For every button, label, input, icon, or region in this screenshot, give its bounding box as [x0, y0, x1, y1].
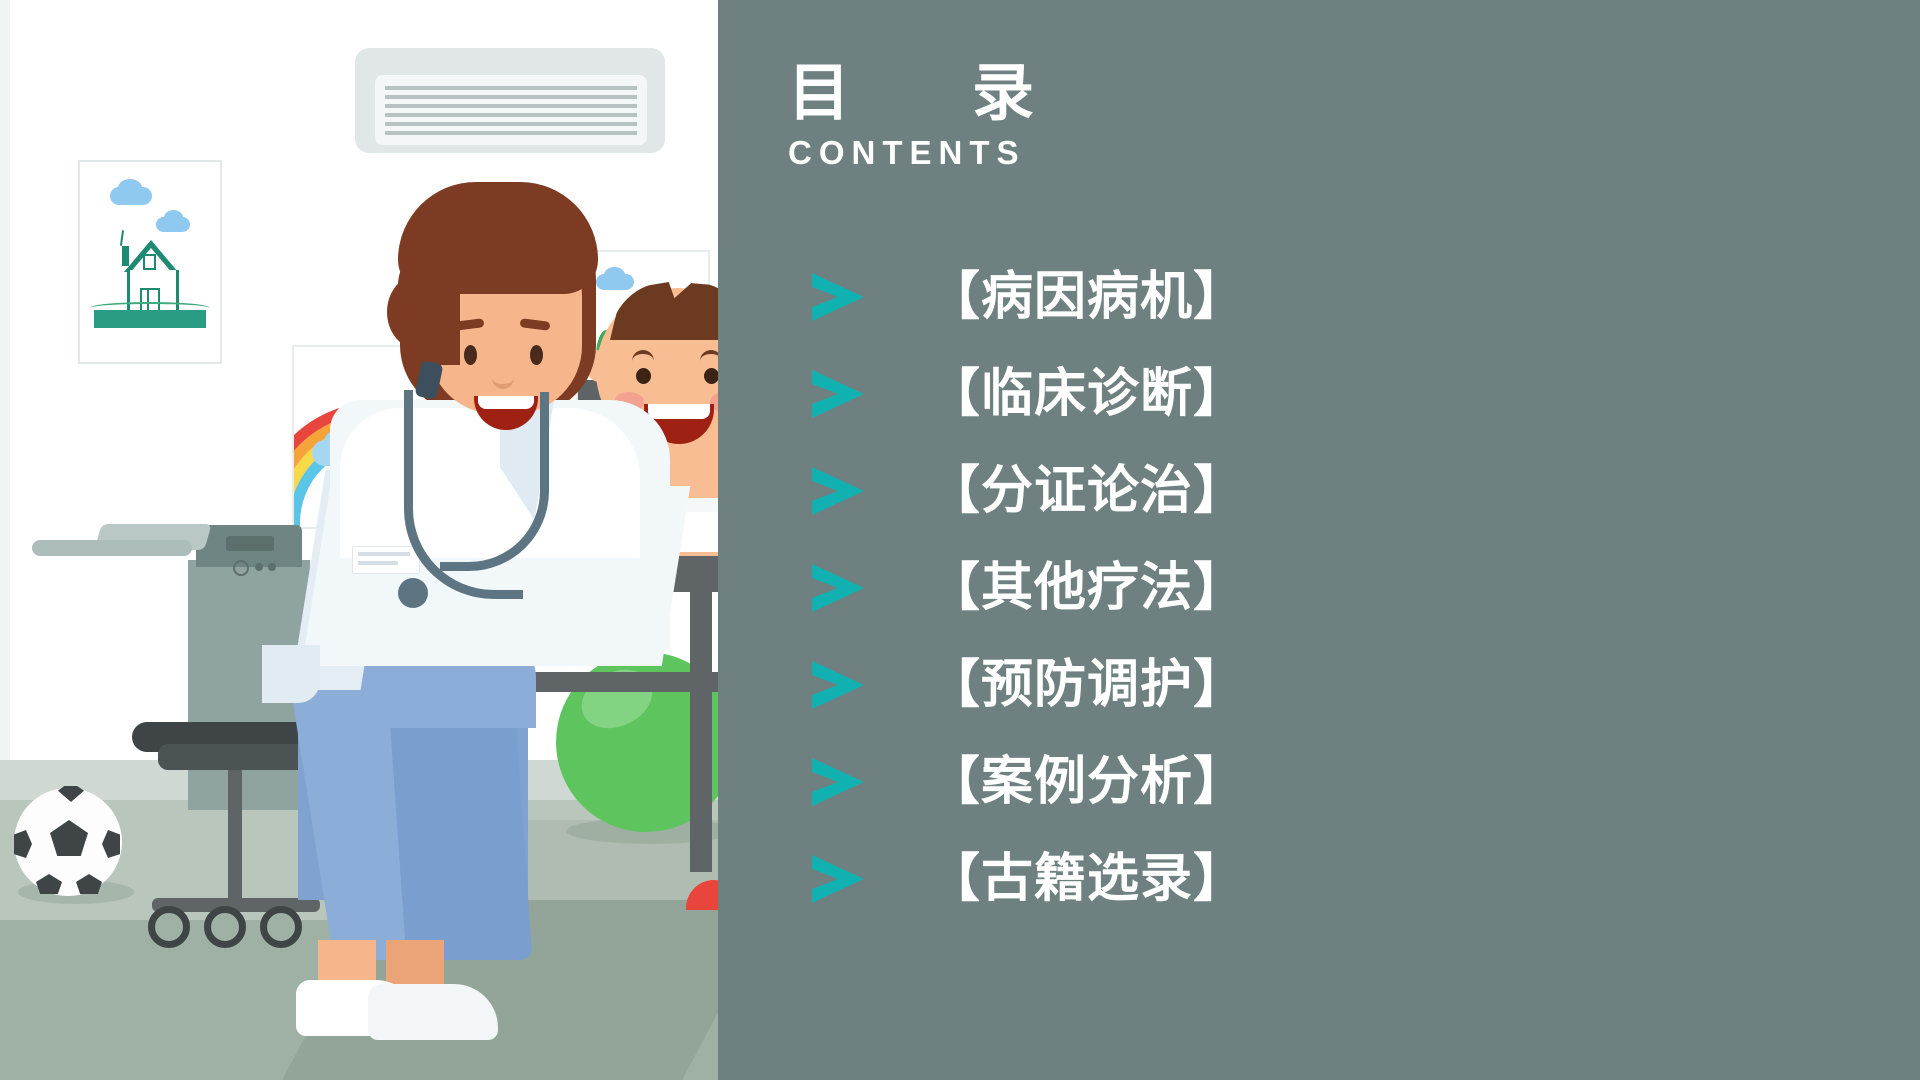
- knob-icon: [268, 563, 276, 571]
- toc-item-6[interactable]: 【案例分析】: [718, 733, 1920, 830]
- cloud-icon: [604, 267, 625, 283]
- play-triangle-icon: [812, 370, 864, 418]
- window-icon: [143, 254, 156, 270]
- toc-item-4[interactable]: 【其他疗法】: [718, 539, 1920, 636]
- baby-eye: [704, 368, 718, 384]
- table-of-contents: 【病因病机】 【临床诊断】 【分证论治】 【其他疗法】: [718, 248, 1920, 927]
- soccer-patch: [76, 874, 102, 894]
- toc-item-7[interactable]: 【古籍选录】: [718, 830, 1920, 927]
- badge-text-line: [358, 561, 398, 565]
- toc-item-1[interactable]: 【病因病机】: [718, 248, 1920, 345]
- doctor-hair-side: [398, 245, 460, 365]
- soccer-patch: [50, 820, 88, 856]
- knob-icon: [255, 563, 263, 571]
- doctor-eye: [530, 345, 543, 365]
- soccer-patch: [12, 830, 32, 858]
- doctor-eye: [464, 345, 477, 365]
- house-drawing-poster: [78, 160, 222, 364]
- toc-item-label: 【古籍选录】: [928, 853, 1246, 905]
- soccer-patch: [36, 874, 62, 894]
- air-conditioner-slats: [385, 86, 637, 138]
- stool-post: [228, 766, 242, 906]
- stethoscope-chestpiece-icon: [398, 578, 428, 608]
- play-triangle-icon: [812, 661, 864, 709]
- toc-item-label: 【其他疗法】: [928, 562, 1246, 614]
- toc-item-label: 【临床诊断】: [928, 368, 1246, 420]
- soccer-patch: [102, 830, 122, 858]
- soccer-ball-icon: [14, 788, 122, 896]
- monitor-screen: [226, 536, 274, 551]
- knob-icon: [233, 560, 249, 576]
- clinic-illustration: [0, 0, 718, 1080]
- toc-item-label: 【案例分析】: [928, 756, 1246, 808]
- soccer-patch: [58, 786, 84, 802]
- page-title-en: CONTENTS: [788, 136, 1064, 169]
- page-title-cn: 目 录: [788, 62, 1064, 124]
- panel-header: 目 录 CONTENTS: [788, 62, 1064, 169]
- cloud-icon: [164, 210, 183, 225]
- play-triangle-icon: [812, 467, 864, 515]
- contents-panel: 目 录 CONTENTS 【病因病机】 【临床诊断】 【分证论治】: [718, 0, 1920, 1080]
- wall-edge: [0, 0, 10, 800]
- play-triangle-icon: [812, 855, 864, 903]
- play-triangle-icon: [812, 273, 864, 321]
- cloud-icon: [118, 179, 142, 197]
- baby-eyebrow: [700, 350, 718, 363]
- cabinet-shelf: [32, 540, 192, 556]
- caster-wheel: [148, 906, 190, 948]
- toc-item-3[interactable]: 【分证论治】: [718, 442, 1920, 539]
- doctor-shoe: [368, 984, 498, 1040]
- toc-item-label: 【预防调护】: [928, 659, 1246, 711]
- exam-table-leg: [690, 592, 712, 872]
- baby-eye: [636, 368, 651, 384]
- toc-item-label: 【分证论治】: [928, 465, 1246, 517]
- caster-wheel: [204, 906, 246, 948]
- slide-root: 目 录 CONTENTS 【病因病机】 【临床诊断】 【分证论治】: [0, 0, 1920, 1080]
- doctor-coat-pocket: [262, 645, 320, 703]
- toc-item-label: 【病因病机】: [928, 271, 1246, 323]
- hill-line: [90, 302, 210, 314]
- play-triangle-icon: [812, 758, 864, 806]
- toc-item-5[interactable]: 【预防调护】: [718, 636, 1920, 733]
- baby-teeth: [648, 404, 710, 419]
- caster-wheel: [260, 906, 302, 948]
- toc-item-2[interactable]: 【临床诊断】: [718, 345, 1920, 442]
- badge-text-line: [358, 552, 410, 556]
- play-triangle-icon: [812, 564, 864, 612]
- doctor-name-badge: [352, 546, 420, 574]
